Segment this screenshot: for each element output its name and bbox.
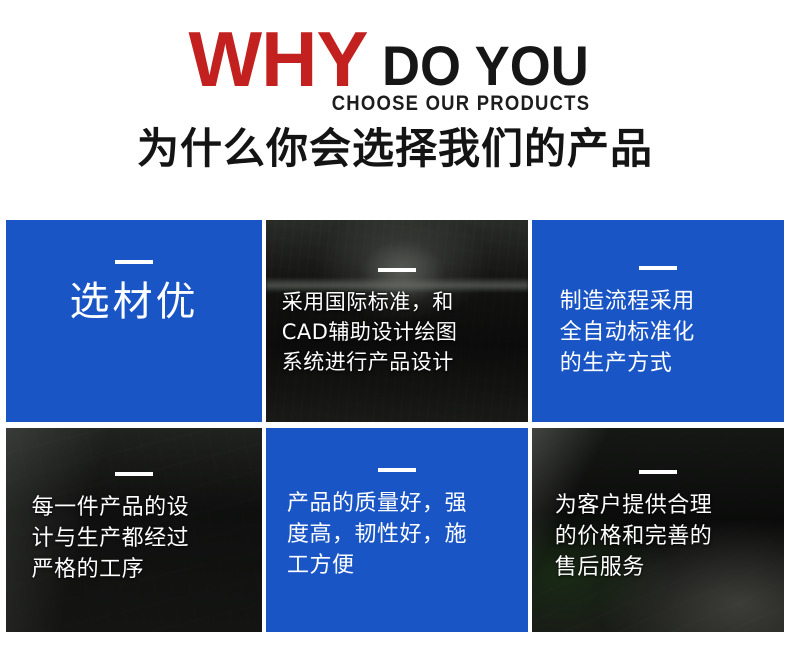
feature-cell-5: 产品的质量好，强 度高，韧性好，施 工方便 — [266, 428, 528, 632]
feature-text-4: 每一件产品的设 计与生产都经过 严格的工序 — [32, 492, 237, 586]
feature-text-5: 产品的质量好，强 度高，韧性好，施 工方便 — [287, 488, 507, 582]
feature-text-1: 选材优 — [19, 278, 249, 326]
divider-icon — [115, 472, 153, 476]
divider-icon — [378, 468, 416, 472]
divider-icon — [378, 268, 416, 272]
headline-row: WHY DO YOU — [0, 16, 790, 96]
feature-cell-1: 选材优 — [6, 220, 262, 422]
feature-cell-2: 采用国际标准，和 CAD辅助设计绘图 系统进行产品设计 — [266, 220, 528, 422]
divider-icon — [115, 260, 153, 264]
headline-why: WHY — [189, 24, 368, 96]
feature-text-2: 采用国际标准，和 CAD辅助设计绘图 系统进行产品设计 — [282, 288, 513, 377]
feature-cell-4: 每一件产品的设 计与生产都经过 严格的工序 — [6, 428, 262, 632]
headline-do-you: DO YOU — [382, 40, 589, 92]
feature-cell-6: 为客户提供合理 的价格和完善的 售后服务 — [532, 428, 784, 632]
divider-icon — [639, 470, 677, 474]
feature-text-3: 制造流程采用 全自动标准化 的生产方式 — [560, 286, 757, 380]
divider-icon — [639, 266, 677, 270]
subtitle-english-wrap: CHOOSE OUR PRODUCTS — [47, 92, 742, 116]
subtitle-chinese: 为什么你会选择我们的产品 — [0, 126, 790, 172]
subtitle-english: CHOOSE OUR PRODUCTS — [200, 92, 591, 116]
banner-header: WHY DO YOU CHOOSE OUR PRODUCTS 为什么你会选择我们… — [0, 0, 790, 205]
feature-cell-3: 制造流程采用 全自动标准化 的生产方式 — [532, 220, 784, 422]
feature-grid: 选材优 采用国际标准，和 CAD辅助设计绘图 系统进行产品设计 制造流程采用 全… — [6, 220, 784, 636]
feature-text-6: 为客户提供合理 的价格和完善的 售后服务 — [555, 490, 762, 584]
promo-banner: WHY DO YOU CHOOSE OUR PRODUCTS 为什么你会选择我们… — [0, 0, 790, 665]
